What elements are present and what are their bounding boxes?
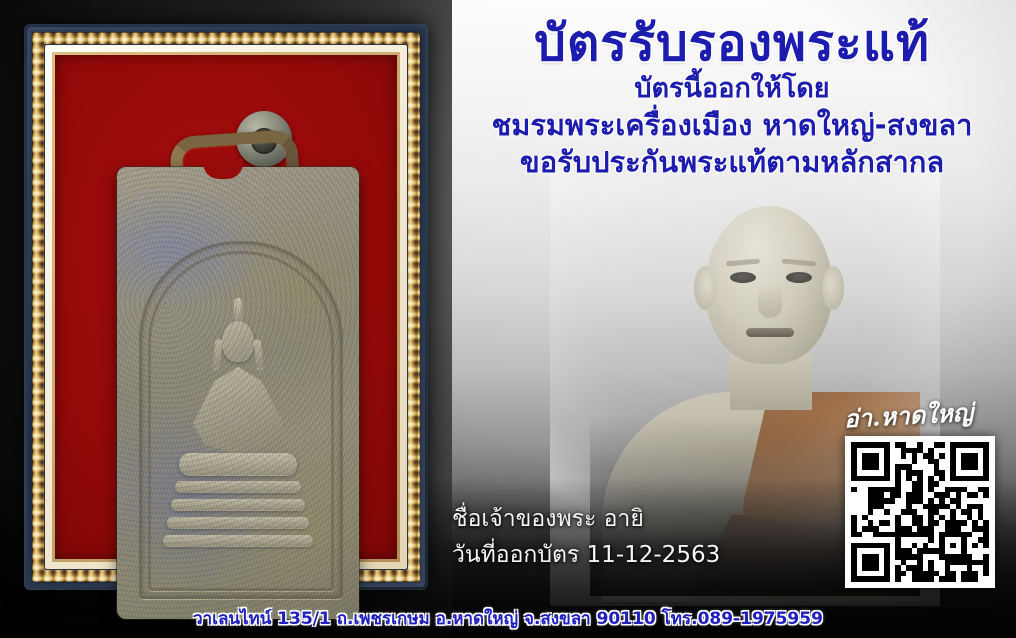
buddha-base-tier-1 [175, 481, 301, 492]
owner-details: ชื่อเจ้าของพระ อายิ วันที่ออกบัตร 11-12-… [452, 502, 720, 573]
qr-code[interactable] [845, 436, 995, 588]
certificate-card: บัตรรับรองพระแท้ บัตรนี้ออกให้โดย ชมรมพร… [0, 0, 1016, 638]
buddha-base-tier-3 [167, 517, 309, 528]
buddha-base-tier-2 [171, 499, 305, 510]
buddha-topknot [234, 298, 242, 324]
shop-address-footer: วาเลนไทน์ 135/1 ถ.เพชรเกษม อ.หาดใหญ่ จ.ส… [0, 605, 1016, 632]
monk-mouth [746, 328, 794, 337]
authorizer-signature: อ่า.หาดใหญ่ [843, 393, 974, 439]
monk-eye-right [786, 272, 812, 283]
amulet-plate [117, 167, 359, 619]
monk-nose [758, 284, 782, 318]
frame-red-mat [55, 55, 397, 559]
amulet-frame [24, 24, 428, 590]
buddha-ear-right [253, 339, 263, 370]
issuing-org: ชมรมพระเครื่องเมือง หาดใหญ่-สงขลา [452, 108, 1012, 143]
monk-ear-left [694, 266, 716, 310]
buddha-head [222, 321, 254, 361]
buddha-torso [189, 367, 287, 455]
buddha-amulet-photo [55, 55, 397, 559]
issued-by-label: บัตรนี้ออกให้โดย [452, 73, 1012, 106]
certificate-heading: บัตรรับรองพระแท้ บัตรนี้ออกให้โดย ชมรมพร… [452, 18, 1012, 181]
monk-eye-left [730, 272, 756, 283]
amulet-arch-outer [139, 241, 343, 599]
buddha-ear-left [212, 339, 222, 370]
qr-code-matrix [851, 442, 989, 582]
buddha-base-tier-4 [163, 535, 313, 546]
owner-name-line: ชื่อเจ้าของพระ อายิ [452, 502, 720, 538]
issue-date-line: วันที่ออกบัตร 11-12-2563 [452, 538, 720, 574]
buddha-torso-relief [189, 367, 287, 455]
monk-ear-right [822, 266, 844, 310]
warranty-statement: ขอรับประกันพระแท้ตามหลักสากล [452, 145, 1012, 180]
amulet-arch-inner [148, 251, 334, 591]
page-title: บัตรรับรองพระแท้ [452, 18, 1012, 69]
buddha-crossed-legs [179, 453, 297, 475]
